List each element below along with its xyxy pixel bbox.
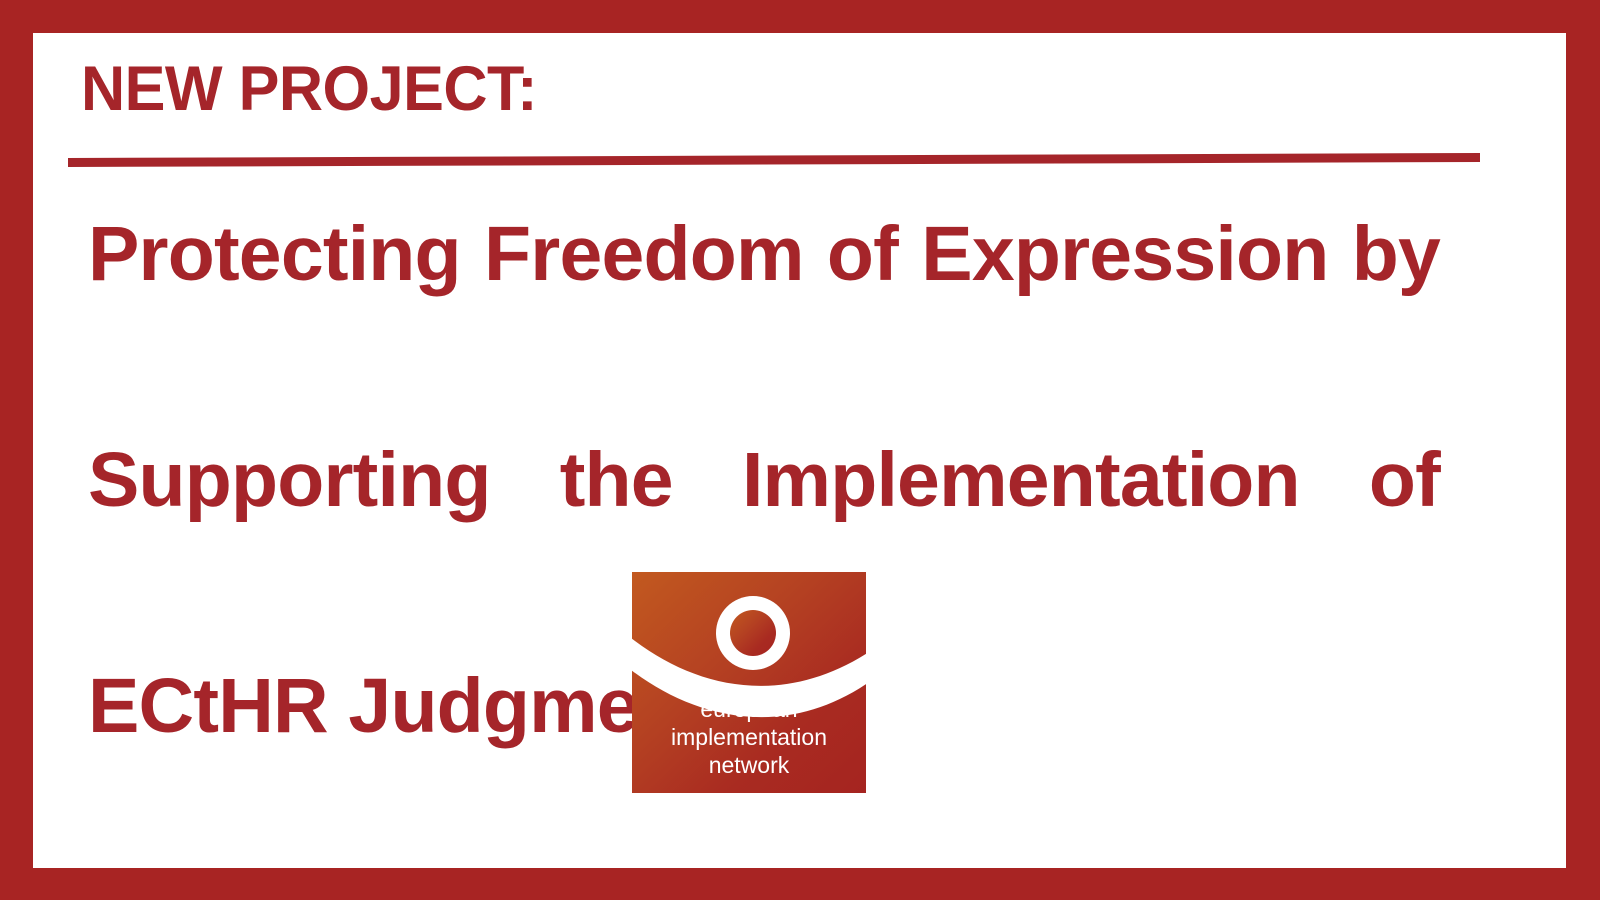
card-inner-panel: NEW PROJECT: Protecting Freedom of Expre… [33,33,1566,868]
ein-logo: european implementation network [632,572,866,793]
announcement-card: NEW PROJECT: Protecting Freedom of Expre… [0,0,1600,900]
divider-shape [68,153,1480,167]
logo-wordmark-line-2: implementation [671,724,827,750]
divider-rule [68,153,1480,162]
logo-wordmark-line-1: european [700,696,797,722]
title-line-1: Protecting Freedom of Expression by [88,198,1440,424]
logo-wordmark-line-3: network [709,752,790,778]
logo-circle-hole [730,610,776,656]
kicker-heading: NEW PROJECT: [81,53,1458,125]
